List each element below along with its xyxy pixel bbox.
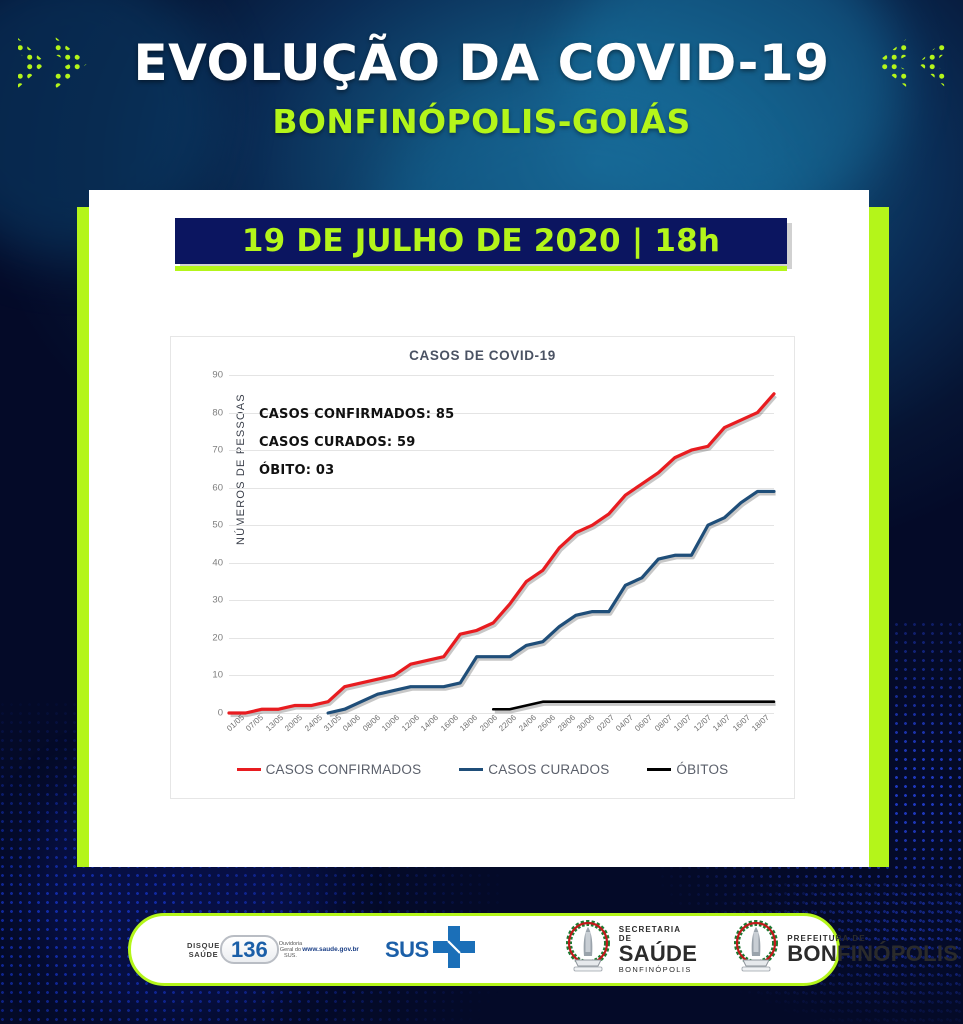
date-banner-text: 19 DE JULHO DE 2020 | 18h: [242, 223, 720, 259]
chart-legend: CASOS CONFIRMADOSCASOS CURADOSÓBITOS: [171, 762, 794, 777]
date-banner-underline: [175, 266, 787, 271]
chart-x-tick-label: 12/06: [400, 713, 421, 733]
chart-y-tick-label: 40: [212, 557, 223, 568]
chart-legend-item[interactable]: CASOS CURADOS: [459, 762, 609, 777]
page-subtitle: BONFINÓPOLIS-GOIÁS: [0, 102, 963, 141]
sus-cross-icon: [431, 924, 477, 975]
chart-x-tick-label: 02/07: [595, 713, 616, 733]
stat-deaths: ÓBITO: 03: [259, 463, 454, 478]
chart-x-tick-label: 26/06: [536, 713, 557, 733]
brasao-goias-icon: [565, 920, 611, 979]
poster-header: EVOLUÇÃO DA COVID-19 BONFINÓP: [0, 34, 963, 141]
chart-x-tick-label: 13/05: [264, 713, 285, 733]
chart-legend-item[interactable]: ÓBITOS: [647, 762, 728, 777]
disque-saude-url: www.saude.gov.br: [302, 946, 359, 953]
chart-y-tick-label: 20: [212, 632, 223, 643]
disque-saude-sub: Ouvidoria Geral do SUS.: [279, 941, 303, 959]
title-row: EVOLUÇÃO DA COVID-19: [0, 34, 963, 92]
chart-legend-label: ÓBITOS: [676, 762, 728, 777]
chart-legend-swatch: [237, 768, 261, 771]
chart-y-tick-label: 10: [212, 670, 223, 681]
chart-x-tick-label: 08/06: [361, 713, 382, 733]
chart-x-tick-label: 04/07: [614, 713, 635, 733]
prefeitura-text-block: PREFEITURA DE BONFINÓPOLIS: [787, 934, 958, 965]
chart-x-tick-label: 08/07: [653, 713, 674, 733]
stat-confirmed: CASOS CONFIRMADOS: 85: [259, 407, 454, 422]
chart-series-line: [328, 491, 774, 713]
chart-series-shadow: [495, 704, 776, 712]
date-banner: 19 DE JULHO DE 2020 | 18h: [175, 218, 787, 271]
page-title: EVOLUÇÃO DA COVID-19: [134, 34, 830, 92]
accent-bar-right: [868, 207, 889, 867]
double-chevron-left-icon: [852, 34, 948, 92]
chart-x-tick-label: 28/06: [556, 713, 577, 733]
chart-x-tick-label: 04/06: [342, 713, 363, 733]
brasao-bonfinopolis-icon: [733, 920, 779, 979]
chart-y-tick-label: 70: [212, 445, 223, 456]
secretaria-bottom: BONFINÓPOLIS: [619, 965, 698, 974]
secretaria-main: SAÚDE: [619, 943, 698, 965]
chart-legend-label: CASOS CONFIRMADOS: [266, 762, 422, 777]
disque-saude-title: DISQUE SAÚDE: [187, 941, 220, 959]
footer-logo-bar: DISQUE SAÚDE 136 Ouvidoria Geral do SUS.…: [128, 913, 840, 986]
stat-cured: CASOS CURADOS: 59: [259, 435, 454, 450]
chart-x-tick-label: 16/07: [731, 713, 752, 733]
chart-x-tick-label: 18/07: [750, 713, 771, 733]
chart-x-tick-label: 22/06: [497, 713, 518, 733]
secretaria-saude-logo: SECRETARIA DE SAÚDE BONFINÓPOLIS: [565, 920, 698, 979]
chart-x-tick-label: 24/05: [303, 713, 324, 733]
chart-x-tick-label: 24/06: [517, 713, 538, 733]
chart-x-tick-label: 10/07: [672, 713, 693, 733]
chart-y-tick-label: 80: [212, 407, 223, 418]
chart-x-tick-label: 18/06: [458, 713, 479, 733]
chart-x-tick-label: 14/06: [419, 713, 440, 733]
chart-y-tick-label: 30: [212, 595, 223, 606]
sus-label: SUS: [385, 937, 429, 963]
chart-x-tick-label: 30/06: [575, 713, 596, 733]
chart-y-tick-label: 0: [218, 708, 223, 719]
secretaria-text-block: SECRETARIA DE SAÚDE BONFINÓPOLIS: [619, 925, 698, 974]
chart-x-tick-label: 10/06: [381, 713, 402, 733]
disque-saude-logo: DISQUE SAÚDE 136 Ouvidoria Geral do SUS.…: [187, 934, 359, 965]
prefeitura-main: BONFINÓPOLIS: [787, 943, 958, 965]
chart-legend-swatch: [459, 768, 483, 771]
chart-x-tick-label: 12/07: [692, 713, 713, 733]
chart-x-tick-label: 14/07: [711, 713, 732, 733]
sus-logo: SUS: [385, 924, 477, 975]
poster-root: EVOLUÇÃO DA COVID-19 BONFINÓP: [0, 0, 963, 1024]
chart-y-tick-label: 60: [212, 482, 223, 493]
prefeitura-logo: PREFEITURA DE BONFINÓPOLIS: [733, 920, 958, 979]
chart-x-tick-label: 16/06: [439, 713, 460, 733]
chart-container: CASOS DE COVID-19 NÚMEROS DE PESSOAS 010…: [170, 336, 795, 799]
chart-legend-item[interactable]: CASOS CONFIRMADOS: [237, 762, 422, 777]
chart-x-tick-label: 20/06: [478, 713, 499, 733]
chart-x-tick-label: 20/05: [283, 713, 304, 733]
chart-y-tick-label: 90: [212, 370, 223, 381]
chart-x-tick-label: 06/07: [634, 713, 655, 733]
disque-saude-number: 136: [220, 935, 279, 964]
date-banner-bar: 19 DE JULHO DE 2020 | 18h: [175, 218, 787, 264]
chart-legend-label: CASOS CURADOS: [488, 762, 609, 777]
chart-title: CASOS DE COVID-19: [171, 337, 794, 363]
chart-legend-swatch: [647, 768, 671, 771]
chart-y-tick-label: 50: [212, 520, 223, 531]
stats-block: CASOS CONFIRMADOS: 85 CASOS CURADOS: 59 …: [259, 407, 454, 491]
double-chevron-right-icon: [16, 34, 112, 92]
